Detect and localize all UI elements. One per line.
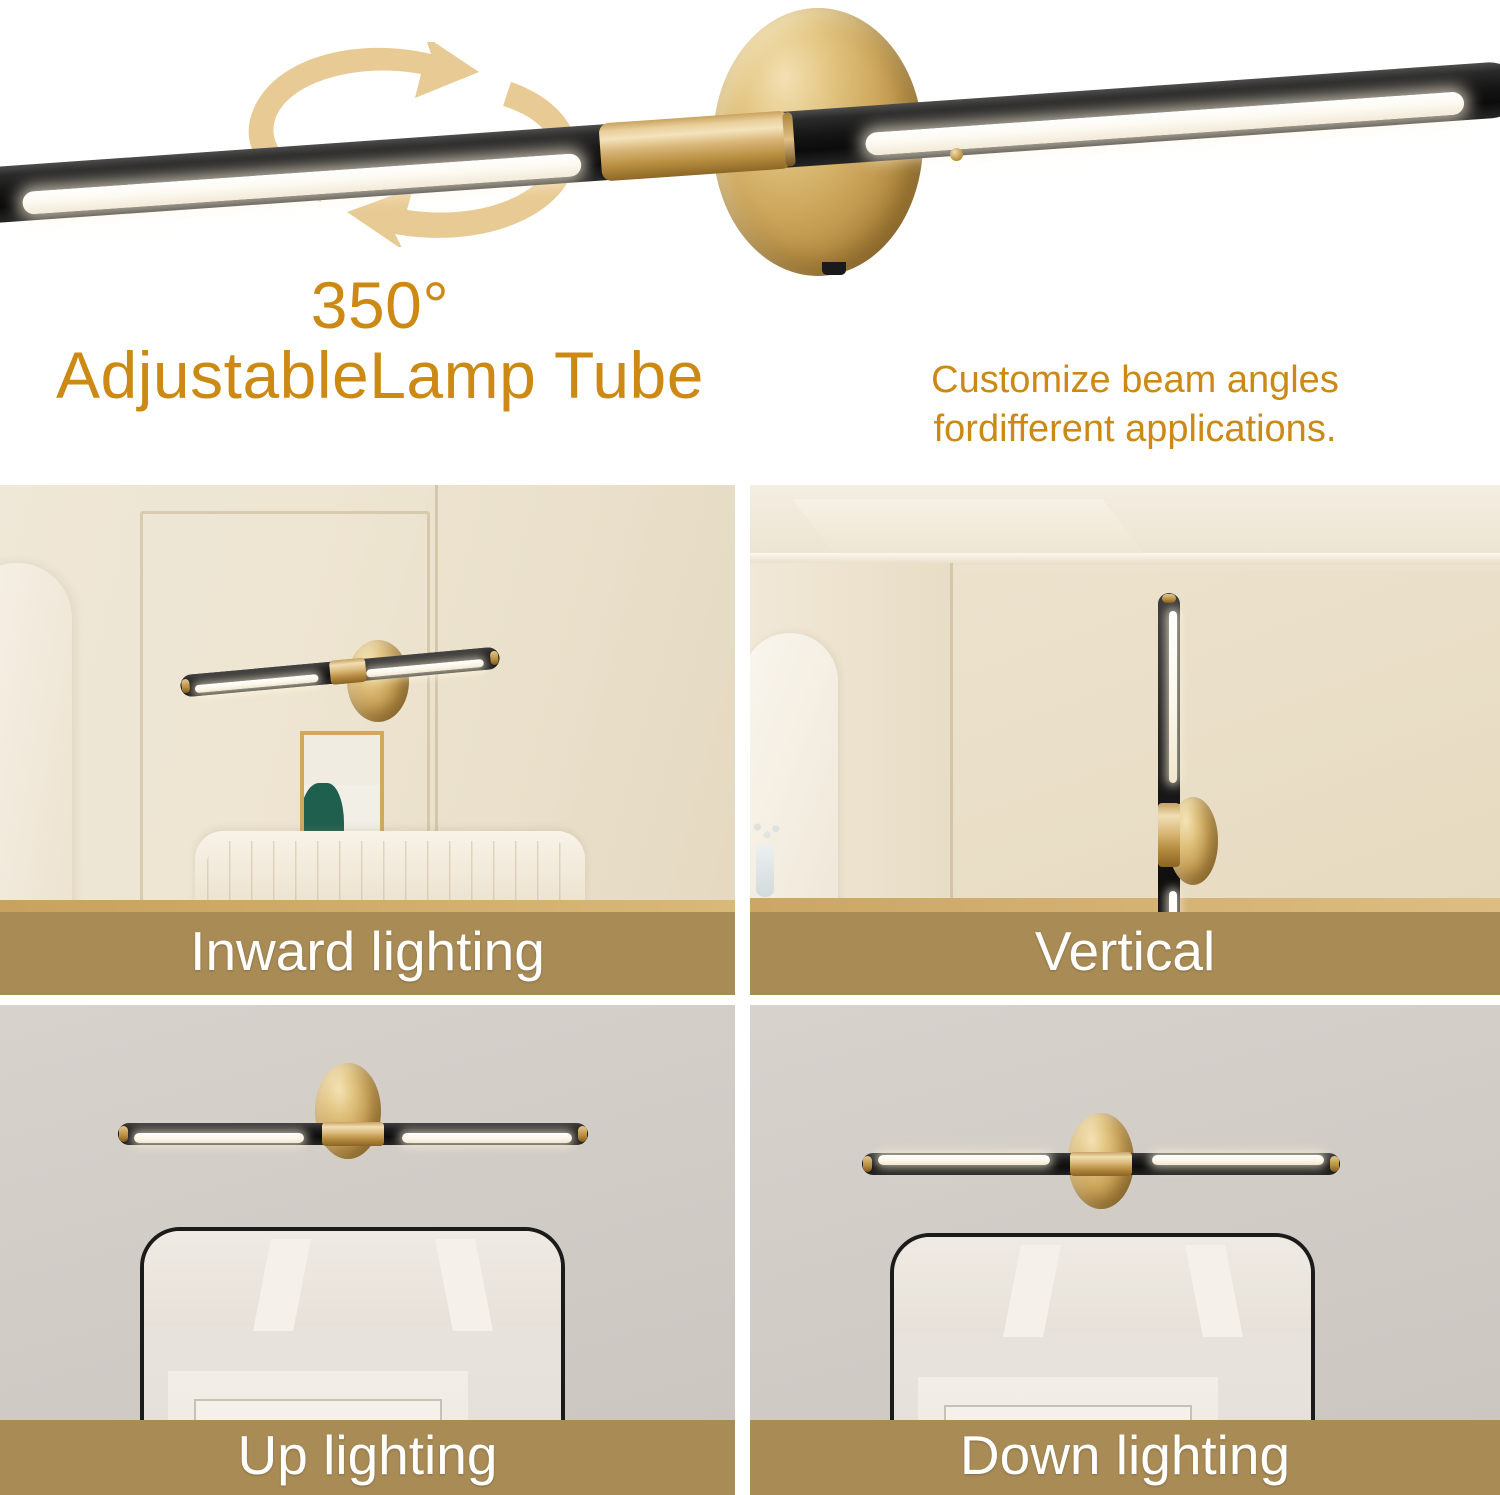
- mirror-reflected-ceiling: [144, 1231, 561, 1327]
- panel-label: Down lighting: [960, 1428, 1290, 1483]
- led-strip-right: [402, 1133, 572, 1143]
- panel-up: Up lighting: [0, 1005, 735, 1495]
- end-cap-right: [578, 1126, 587, 1142]
- panel-banner-vertical: Vertical: [750, 912, 1500, 995]
- gold-collar: [322, 1122, 384, 1146]
- end-cap-top: [1162, 594, 1176, 603]
- led-strip-upper: [1169, 611, 1177, 783]
- panel-label: Vertical: [1035, 924, 1215, 979]
- panel-inward: Inward lighting: [0, 485, 735, 995]
- led-strip-left: [134, 1133, 304, 1143]
- art-top-block: [304, 735, 380, 785]
- wall-lamp-down: [862, 1153, 1340, 1175]
- wall-lamp-up: [118, 1123, 588, 1145]
- mirror-reflected-ceiling: [894, 1237, 1311, 1333]
- led-strip-left: [878, 1155, 1050, 1165]
- plate-screw: [822, 262, 846, 275]
- floor-strip: [750, 898, 1500, 912]
- sofa: [195, 831, 585, 907]
- led-strip-right: [1152, 1155, 1324, 1165]
- headline-left: 350° AdjustableLamp Tube: [0, 272, 760, 413]
- panel-banner-inward: Inward lighting: [0, 912, 735, 995]
- headline-right-line1: Customize beam angles: [855, 356, 1415, 405]
- panel-label: Up lighting: [238, 1428, 498, 1483]
- end-cap-left: [863, 1156, 872, 1172]
- headline-subject: AdjustableLamp Tube: [0, 339, 760, 413]
- hero-product-image: [0, 0, 1500, 285]
- floor-strip: [0, 900, 735, 912]
- headline-right: Customize beam angles fordifferent appli…: [855, 356, 1415, 455]
- sofa-ribbing: [207, 841, 573, 903]
- vase: [756, 845, 774, 897]
- end-cap-right-front: [490, 651, 499, 666]
- end-cap-left: [119, 1126, 128, 1142]
- gold-collar: [1158, 803, 1180, 867]
- panel-down: Down lighting: [750, 1005, 1500, 1495]
- headline-right-line2: fordifferent applications.: [855, 405, 1415, 454]
- panel-banner-up: Up lighting: [0, 1420, 735, 1495]
- end-cap-right: [1330, 1156, 1339, 1172]
- panel-banner-down: Down lighting: [750, 1420, 1500, 1495]
- headline-degrees: 350°: [0, 272, 760, 339]
- product-infographic: 350° AdjustableLamp Tube Customize beam …: [0, 0, 1500, 1495]
- panel-label: Inward lighting: [190, 924, 545, 979]
- gold-collar: [1070, 1152, 1132, 1176]
- end-cap-left-front: [181, 679, 190, 694]
- gold-collar-front: [329, 658, 367, 685]
- plate-pivot-nub: [950, 148, 963, 161]
- scene-grid: Inward lighting: [0, 485, 1500, 1495]
- panel-vertical: Vertical: [750, 485, 1500, 995]
